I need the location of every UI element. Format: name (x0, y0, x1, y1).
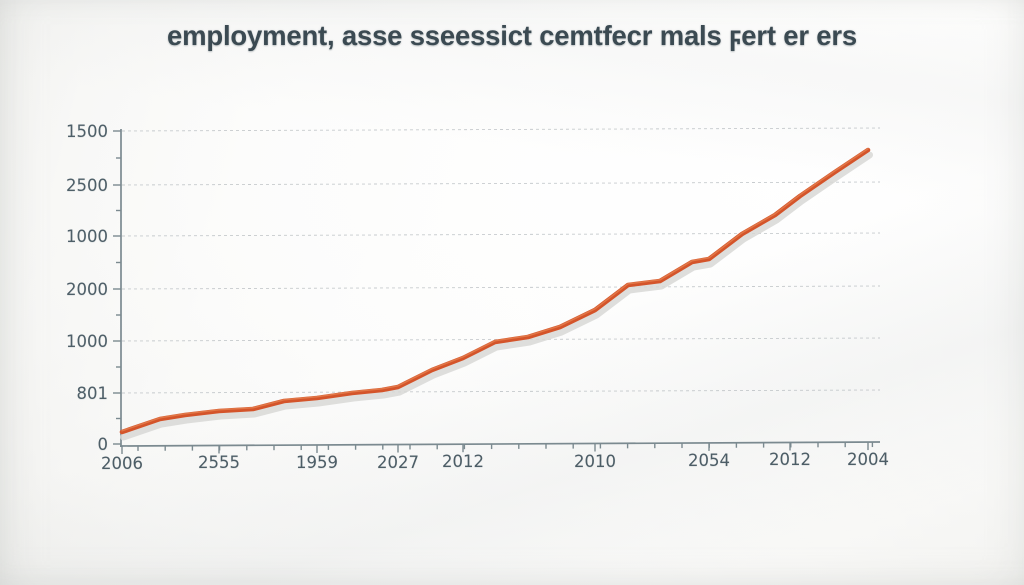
y-axis-tick-label-wrap: 2000 (52, 280, 108, 300)
x-axis-tick-label: 2012 (769, 450, 811, 469)
x-axis-tick-label: 2012 (442, 452, 484, 471)
gridlines (122, 128, 880, 393)
gridline (122, 233, 880, 236)
x-axis-tick-label: 2027 (377, 453, 419, 472)
y-axis-tick-label: 2000 (66, 280, 108, 299)
series-shadow (124, 155, 870, 437)
y-axis-tick-label: 801 (77, 384, 109, 403)
gridline (122, 182, 880, 185)
y-axis-tick-label-wrap: 1000 (52, 332, 108, 352)
x-axis-line (120, 442, 880, 446)
y-axis-tick-label-wrap: 1000 (52, 227, 108, 247)
gridline (122, 390, 880, 393)
chart-page: employment, asse sseessict cemtfecr mals… (0, 0, 1024, 585)
y-axis-tick-label: 0 (98, 435, 109, 454)
x-axis-tick-label: 2006 (101, 454, 143, 473)
x-axis-tick-label: 2010 (574, 452, 616, 471)
gridline (122, 128, 880, 131)
gridline (122, 286, 880, 289)
y-axis-tick-label: 1000 (66, 227, 108, 246)
y-axis-tick-label-wrap: 2500 (52, 176, 108, 196)
y-axis-ticks (113, 131, 121, 444)
x-axis-tick-label: 2054 (688, 451, 730, 470)
y-axis-tick-label: 1000 (66, 332, 108, 351)
series-line (122, 149, 868, 432)
y-axis-tick-label-wrap: 0 (52, 435, 108, 455)
y-axis-tick-label: 1500 (66, 122, 108, 141)
x-axis-tick-label: 2555 (198, 453, 240, 472)
y-axis-tick-label-wrap: 801 (52, 384, 108, 404)
x-axis-tick-label: 2004 (847, 450, 889, 469)
x-axis-tick-label: 1959 (296, 453, 338, 472)
y-axis-tick-label: 2500 (66, 176, 108, 195)
plot-area: 150025001000200010008010 200625551959202… (0, 0, 1024, 585)
y-axis-tick-label-wrap: 1500 (52, 122, 108, 142)
plot-svg (0, 0, 1024, 585)
